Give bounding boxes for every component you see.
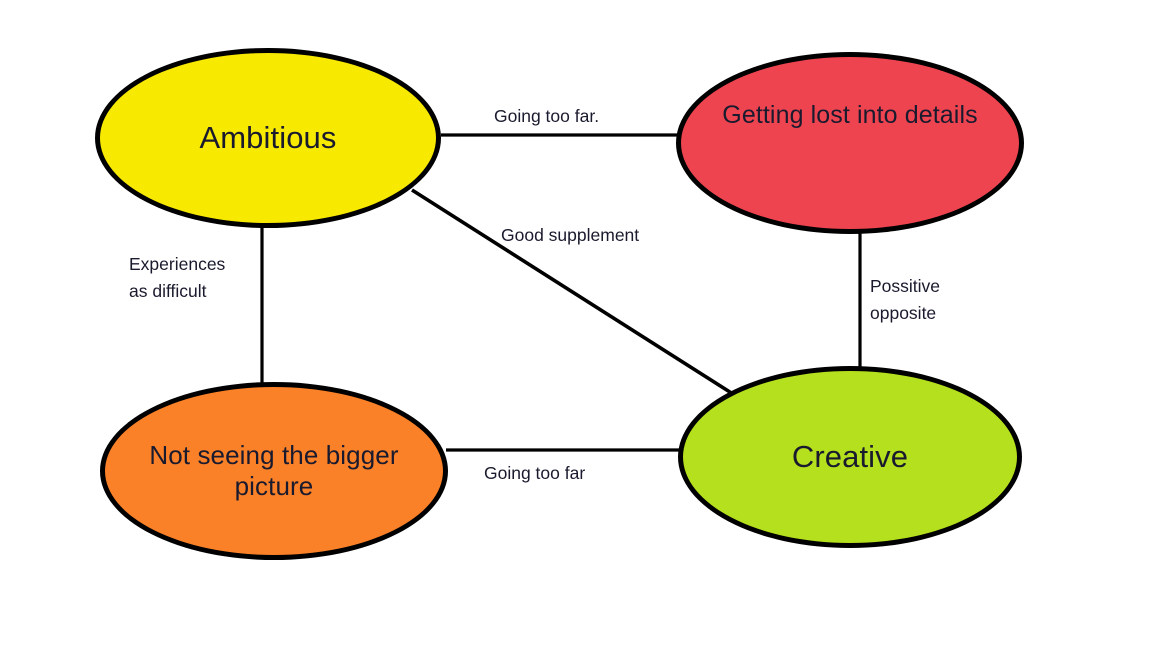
edge-label-ambitious-creative: Good supplement	[501, 222, 639, 249]
node-creative-label: Creative	[713, 439, 987, 476]
node-not-seeing-the-bigger-picture[interactable]: Not seeing the bigger picture	[100, 382, 448, 560]
node-getting-lost-into-details-label: Getting lost into details	[691, 101, 1009, 131]
diagram-canvas: Ambitious Getting lost into details Not …	[0, 0, 1152, 648]
node-ambitious-label: Ambitious	[130, 120, 406, 157]
node-creative[interactable]: Creative	[678, 366, 1022, 548]
edge-label-details-creative: Possitive opposite	[870, 273, 940, 327]
edge-label-ambitious-details: Going too far.	[494, 103, 599, 130]
node-not-seeing-the-bigger-picture-label: Not seeing the bigger picture	[135, 440, 412, 501]
edge-label-ambitious-bigger: Experiences as difficult	[129, 251, 225, 305]
node-getting-lost-into-details[interactable]: Getting lost into details	[676, 52, 1024, 234]
edge-label-bigger-creative: Going too far	[484, 460, 585, 487]
node-ambitious[interactable]: Ambitious	[95, 48, 441, 228]
edge-ambitious-creative[interactable]	[412, 190, 733, 394]
